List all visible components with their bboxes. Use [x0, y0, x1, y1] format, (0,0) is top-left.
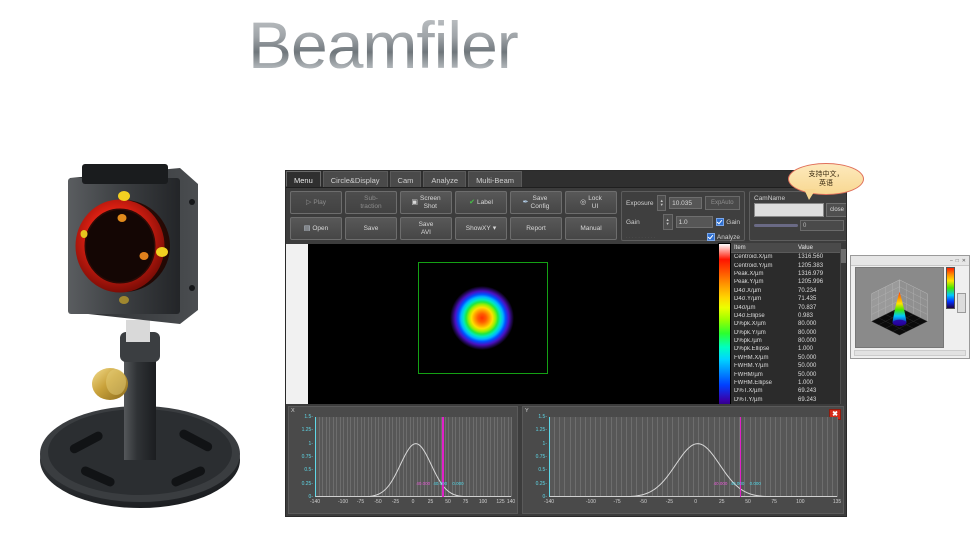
cell-value: 71.435 [796, 296, 846, 302]
save-config-button[interactable]: ✒ Save Config [510, 191, 562, 214]
second-value[interactable]: 1 [846, 220, 847, 231]
3d-view-window[interactable]: – □ ✕ [850, 255, 970, 359]
analyze-checkbox[interactable]: Analyze [707, 233, 740, 241]
close-camera-button[interactable]: close [826, 203, 847, 217]
beamfiler-application-window: Menu Circle&Display Cam Analyze Multi-Be… [285, 170, 847, 517]
cell-value: 1.000 [796, 346, 846, 352]
close-icon[interactable]: ✕ [962, 258, 966, 264]
x-tick-label: -75 [357, 499, 364, 505]
cursor-readout: 40.000 [416, 481, 430, 486]
table-row[interactable]: FWHM.X/µm50.000 [731, 354, 846, 362]
slider-value[interactable]: 0 [800, 220, 844, 231]
camera-slider[interactable] [754, 224, 798, 227]
cursor-readout: 40.000 [433, 481, 447, 486]
toolbar-buttons: ▷ Play Sub- traction ▣ Screen Shot ✔ Lab… [290, 191, 617, 244]
x-tick-label: 135 [833, 499, 841, 505]
table-row[interactable]: Peak.Y/µm1205.996 [731, 278, 846, 286]
manual-button[interactable]: Manual [565, 217, 617, 240]
intensity-colorbar [718, 243, 731, 417]
cell-value: 1.000 [796, 380, 846, 386]
table-header: Item Value [731, 243, 846, 253]
button-label: Open [312, 225, 328, 233]
toolbar-row-1: ▷ Play Sub- traction ▣ Screen Shot ✔ Lab… [290, 191, 617, 214]
cursor-readout: 0.000 [452, 481, 463, 486]
checkbox-label: Gain [726, 219, 740, 226]
header-item: Item [731, 245, 796, 251]
cell-item: D%T.Y/µm [731, 397, 796, 403]
button-label: Label [477, 199, 493, 207]
button-label: Save [364, 225, 379, 233]
cell-item: Centroid.X/µm [731, 254, 796, 260]
check-icon: ✔ [469, 199, 475, 206]
cell-value: 50.000 [796, 363, 846, 369]
minimize-icon[interactable]: – [950, 258, 953, 264]
x-tick-label: 0 [412, 499, 415, 505]
x-tick-label: 0 [694, 499, 697, 505]
surface-plot-svg [856, 268, 943, 347]
tab-label: Circle&Display [331, 176, 380, 185]
cell-item: D%pk.Y/µm [731, 330, 796, 336]
x-profile-chart[interactable]: X 0-0.25-0.5-0.75-1-1.25-1.5--140-100-75… [288, 406, 518, 514]
callout-line-2: 英语 [819, 179, 833, 188]
cell-item: D4σ/µm [731, 305, 796, 311]
gridline [511, 417, 512, 497]
camera-illustration [20, 160, 260, 520]
x-tick-label: 125 [496, 499, 504, 505]
button-label: Save AVI [419, 221, 434, 236]
profile-curve [315, 417, 511, 497]
checkbox-label: Analyze [717, 234, 740, 241]
callout-line-1: 支持中文， [809, 170, 844, 179]
callout-bubble: 支持中文， 英语 [788, 163, 864, 195]
exposure-row: Exposure ▲▼ 10.035 ExpAuto [626, 195, 740, 211]
y-profile-chart[interactable]: Y ✖ 0-0.25-0.5-0.75-1-1.25-1.5--140-100-… [522, 406, 844, 514]
x-tick-label: -50 [640, 499, 647, 505]
cell-value: 80.000 [796, 338, 846, 344]
gain-row: Gain ▲▼ 1.0 Gain [626, 214, 740, 230]
table-row[interactable]: D4σ.X/µm70.234 [731, 287, 846, 295]
y-tick-label: 0.75- [536, 454, 547, 460]
cam-slider-row: 0 1 [754, 220, 847, 231]
gridline [837, 417, 838, 497]
gain-checkbox[interactable]: Gain [716, 218, 740, 226]
checkbox-icon [716, 218, 724, 226]
screenshot-icon: ▣ [411, 199, 418, 206]
table-row[interactable]: D%T.Y/µm69.243 [731, 396, 846, 404]
play-button[interactable]: ▷ Play [290, 191, 342, 214]
table-row[interactable]: D%T.X/µm69.243 [731, 387, 846, 395]
y-tick-label: 1.25- [536, 427, 547, 433]
button-label: Lock UI [588, 195, 602, 210]
x-tick-label: -25 [666, 499, 673, 505]
y-tick-label: 0.5- [304, 467, 313, 473]
table-row[interactable]: FWHM/µm50.000 [731, 370, 846, 378]
gain-input[interactable]: 1.0 [676, 216, 714, 228]
button-label: Play [313, 199, 326, 207]
cam-controls: close English ▾ [754, 203, 847, 217]
tab-label: Multi-Beam [476, 176, 514, 185]
x-tick-label: 140 [507, 499, 515, 505]
header-value: Value [796, 245, 846, 251]
cell-item: D4σ.Ellipse [731, 313, 796, 319]
tab-analyze[interactable]: Analyze [423, 171, 466, 187]
y-tick-label: 1.25- [302, 427, 313, 433]
exposure-input[interactable]: 10.035 [669, 197, 701, 209]
x-tick-label: -75 [613, 499, 620, 505]
camname-input[interactable] [754, 203, 824, 217]
toolbar: ▷ Play Sub- traction ▣ Screen Shot ✔ Lab… [286, 188, 846, 244]
cell-value: 0.983 [796, 313, 846, 319]
beam-spot-2d [450, 286, 514, 350]
button-label: Manual [580, 225, 601, 233]
callout-tail [804, 189, 816, 200]
cell-item: D%T.X/µm [731, 388, 796, 394]
save-avi-button[interactable]: Save AVI [400, 217, 452, 240]
y-tick-label: 0.25- [536, 481, 547, 487]
exp-auto-button[interactable]: ExpAuto [705, 196, 740, 210]
cursor-readout: 40.000 [731, 481, 745, 486]
table-row[interactable]: D%pk.X/µm80.000 [731, 320, 846, 328]
camera-top-slot [82, 164, 168, 184]
table-row[interactable]: D4σ.Y/µm71.435 [731, 295, 846, 303]
button-label: Screen Shot [420, 195, 441, 210]
x-tick-label: 25 [719, 499, 725, 505]
cell-value: 1316.979 [796, 271, 846, 277]
x-plot-area: 0-0.25-0.5-0.75-1-1.25-1.5--140-100-75-5… [315, 417, 511, 497]
tab-cam[interactable]: Cam [390, 171, 422, 187]
3d-window-body [855, 267, 966, 348]
x-tick-label: -100 [586, 499, 596, 505]
table-scrollbar[interactable] [840, 243, 846, 417]
button-label: Save Config [531, 195, 550, 210]
cell-item: D%pk.Ellipse [731, 346, 796, 352]
cell-value: 70.234 [796, 288, 846, 294]
table-row[interactable]: FWHM.Y/µm50.000 [731, 362, 846, 370]
cell-item: FWHM.Ellipse [731, 380, 796, 386]
cell-value: 70.837 [796, 305, 846, 311]
tab-label: Cam [398, 176, 414, 185]
x-tick-label: 50 [445, 499, 451, 505]
cell-item: D4σ.X/µm [731, 288, 796, 294]
screen-shot-button[interactable]: ▣ Screen Shot [400, 191, 452, 214]
cell-item: Centroid.Y/µm [731, 263, 796, 269]
table-row[interactable]: Peak.X/µm1316.979 [731, 270, 846, 278]
show-xy-dropdown[interactable]: ShowXY ▾ [455, 217, 507, 240]
label-button[interactable]: ✔ Label [455, 191, 507, 214]
exposure-gain-group: Exposure ▲▼ 10.035 ExpAuto Gain ▲▼ 1.0 G… [621, 191, 745, 241]
table-body: Centroid.X/µm1316.560Centroid.Y/µm1205.3… [731, 253, 846, 417]
chevron-down-icon: ▾ [493, 225, 497, 232]
maximize-icon[interactable]: □ [956, 258, 959, 264]
exposure-slider-ticks: .......... [626, 235, 657, 239]
chart-label-y: Y [525, 408, 529, 414]
report-button[interactable]: Report [510, 217, 562, 240]
x-tick-label: -140 [544, 499, 554, 505]
open-button[interactable]: ▤ Open [290, 217, 342, 240]
y-tick-label: 1- [543, 441, 547, 447]
cell-value: 1205.996 [796, 279, 846, 285]
y-tick-label: 0.25- [302, 481, 313, 487]
cell-item: FWHM.Y/µm [731, 363, 796, 369]
table-row[interactable]: D%pk.Ellipse1.000 [731, 345, 846, 353]
3d-colorbar [946, 267, 955, 309]
toolbar-row-2: ▤ Open Save Save AVI ShowXY ▾ Report Man [290, 217, 617, 240]
tab-menu[interactable]: Menu [286, 171, 321, 187]
x-tick-label: 100 [796, 499, 804, 505]
x-tick-label: -50 [374, 499, 381, 505]
page-footer-text [300, 542, 720, 552]
table-row[interactable]: D4σ/µm70.837 [731, 303, 846, 311]
folder-icon: ▤ [304, 225, 311, 232]
x-tick-label: 75 [771, 499, 777, 505]
3d-side-toolbar[interactable] [957, 267, 966, 348]
button-label: ShowXY [466, 225, 491, 233]
tab-bar: Menu Circle&Display Cam Analyze Multi-Be… [286, 171, 846, 188]
y-tick-label: 0.5- [538, 467, 547, 473]
exposure-spinner[interactable]: ▲▼ [657, 195, 666, 211]
play-icon: ▷ [306, 199, 311, 206]
table-row[interactable]: Centroid.X/µm1316.560 [731, 253, 846, 261]
table-row[interactable]: D4σ.Ellipse0.983 [731, 312, 846, 320]
x-tick-label: -25 [392, 499, 399, 505]
lock-ui-button[interactable]: ◎ Lock UI [565, 191, 617, 214]
cell-value: 50.000 [796, 355, 846, 361]
button-label: Sub- traction [360, 195, 381, 210]
x-tick-label: 75 [463, 499, 469, 505]
3d-window-statusbar [854, 350, 966, 356]
save-config-icon: ✒ [523, 199, 529, 206]
cell-item: Peak.Y/µm [731, 279, 796, 285]
cell-item: FWHM/µm [731, 372, 796, 378]
beam-surface-3d[interactable] [855, 267, 944, 348]
camname-label: CamName [754, 195, 785, 202]
cursor-readout: 40.000 [714, 481, 728, 486]
measurements-table[interactable]: Item Value Centroid.X/µm1316.560Centroid… [731, 243, 846, 417]
profile-charts: X 0-0.25-0.5-0.75-1-1.25-1.5--140-100-75… [286, 404, 846, 516]
table-row[interactable]: D%pk./µm80.000 [731, 337, 846, 345]
cell-value: 80.000 [796, 330, 846, 336]
cell-item: D%pk.X/µm [731, 321, 796, 327]
tab-circle-display[interactable]: Circle&Display [323, 171, 388, 187]
cell-value: 1316.560 [796, 254, 846, 260]
exposure-label: Exposure [626, 200, 654, 207]
y-plot-area: 0-0.25-0.5-0.75-1-1.25-1.5--140-100-75-5… [549, 417, 837, 497]
y-tick-label: 1.5- [538, 414, 547, 420]
cell-value: 50.000 [796, 372, 846, 378]
x-tick-label: 50 [745, 499, 751, 505]
subtraction-button[interactable]: Sub- traction [345, 191, 397, 214]
language-support-callout: 支持中文， 英语 [788, 163, 862, 195]
cursor-readout: 0.000 [750, 481, 761, 486]
x-tick-label: -140 [310, 499, 320, 505]
checkbox-icon [707, 233, 715, 241]
tab-multi-beam[interactable]: Multi-Beam [468, 171, 522, 187]
post-collar [126, 320, 150, 342]
cell-item: FWHM.X/µm [731, 355, 796, 361]
cam-labels: CamName Language [754, 195, 847, 202]
x-tick-label: 100 [479, 499, 487, 505]
gain-label: Gain [626, 219, 660, 226]
profile-curve [549, 417, 837, 497]
y-tick-label: 0.75- [302, 454, 313, 460]
image-margin-left [286, 244, 308, 418]
cell-value: 1205.383 [796, 263, 846, 269]
measurements-panel: Item Value Centroid.X/µm1316.560Centroid… [718, 243, 846, 417]
x-tick-label: 25 [428, 499, 434, 505]
tab-label: Menu [294, 176, 313, 185]
cell-value: 69.243 [796, 397, 846, 403]
chart-label-x: X [291, 408, 295, 414]
analyze-row: .......... Analyze [626, 233, 740, 241]
3d-tool-button[interactable] [957, 293, 966, 313]
x-tick-label: -100 [338, 499, 348, 505]
3d-window-titlebar: – □ ✕ [851, 256, 969, 266]
product-photo-beam-profiler [20, 160, 260, 520]
save-button[interactable]: Save [345, 217, 397, 240]
camera-settings-group: CamName Language close English ▾ 0 1 [749, 191, 847, 241]
cell-item: Peak.X/µm [731, 271, 796, 277]
tab-label: Analyze [431, 176, 458, 185]
cell-value: 80.000 [796, 321, 846, 327]
y-tick-label: 1.5- [304, 414, 313, 420]
lock-icon: ◎ [580, 199, 586, 206]
cell-value: 69.243 [796, 388, 846, 394]
page-title: Beamfiler [248, 8, 518, 84]
table-row[interactable]: FWHM.Ellipse1.000 [731, 379, 846, 387]
table-row[interactable]: Centroid.Y/µm1205.383 [731, 261, 846, 269]
button-label: Report [526, 225, 546, 233]
table-row[interactable]: D%pk.Y/µm80.000 [731, 329, 846, 337]
cell-item: D4σ.Y/µm [731, 296, 796, 302]
gain-spinner[interactable]: ▲▼ [663, 214, 673, 230]
cell-item: D%pk./µm [731, 338, 796, 344]
y-tick-label: 1- [309, 441, 313, 447]
scrollbar-thumb[interactable] [841, 249, 846, 263]
